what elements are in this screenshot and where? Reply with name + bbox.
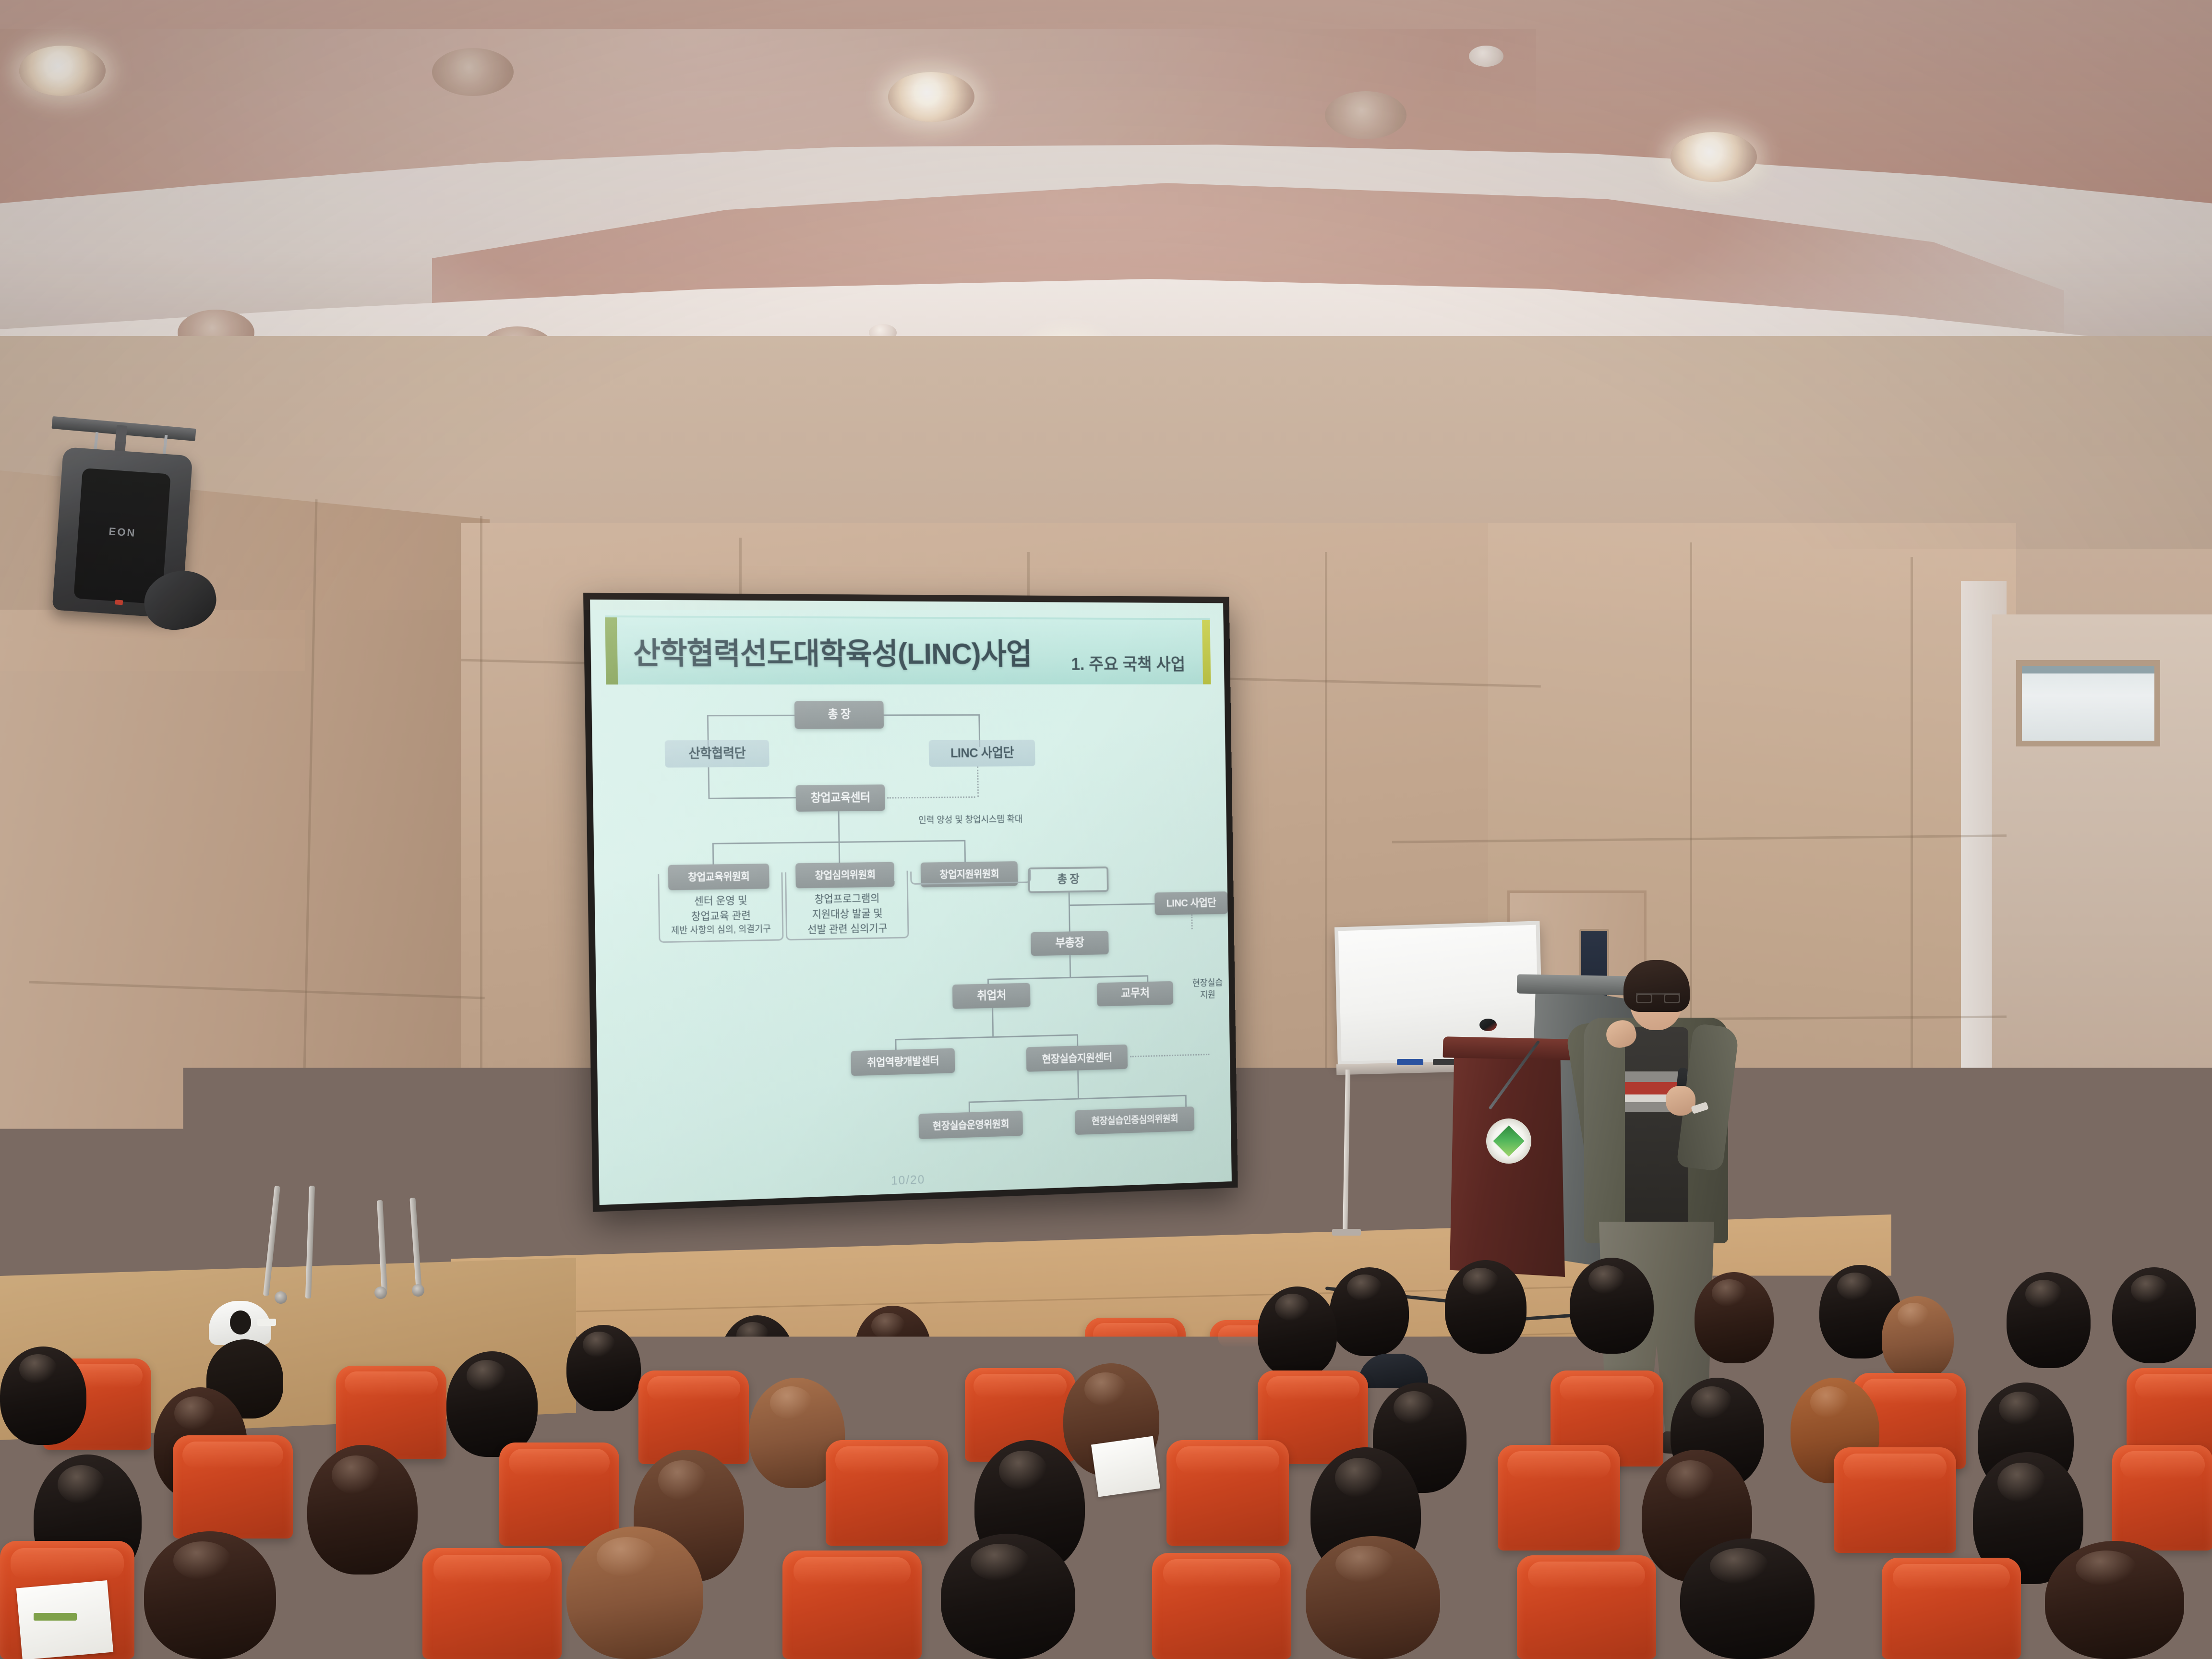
seat[interactable] bbox=[1834, 1447, 1956, 1553]
connector bbox=[707, 715, 794, 716]
org-caption-left-2: 창업프로그램의 지원대상 발굴 및 선발 관련 심의기구 bbox=[785, 890, 909, 938]
folding-table-caster bbox=[412, 1284, 424, 1297]
university-seal-emblem bbox=[1486, 1118, 1531, 1164]
presenter-sweater bbox=[1625, 1027, 1688, 1229]
back-counter-equipment bbox=[2107, 1087, 2165, 1126]
annotation-line: 현장실습 bbox=[1177, 977, 1232, 990]
connector bbox=[1077, 1070, 1079, 1098]
slide-title: 산학협력선도대학육성(LINC)사업 bbox=[633, 629, 1032, 673]
caption-line: 창업프로그램의 bbox=[785, 890, 908, 907]
ceiling-downlight-icon bbox=[888, 72, 974, 122]
whiteboard-marker-black[interactable] bbox=[1433, 1059, 1456, 1065]
seat[interactable] bbox=[1517, 1555, 1656, 1659]
folding-table-modesty-panel bbox=[305, 1145, 413, 1224]
audience-head bbox=[1445, 1260, 1527, 1354]
org-node-right-7: 현장실습지원센터 bbox=[1026, 1045, 1128, 1072]
org-node-right-2: LINC 사업단 bbox=[1154, 891, 1228, 915]
audience-head bbox=[1258, 1286, 1337, 1378]
slide-page-number: 10/20 bbox=[891, 1172, 926, 1188]
slide-accent-left bbox=[605, 617, 618, 685]
connector bbox=[712, 843, 714, 866]
caption-line: 선발 관련 심의기구 bbox=[786, 920, 909, 938]
wall-seam bbox=[1911, 557, 1913, 1219]
dotted-connector bbox=[1130, 1054, 1209, 1057]
seat[interactable] bbox=[336, 1366, 446, 1459]
seat[interactable] bbox=[2112, 1445, 2212, 1551]
dotted-connector bbox=[887, 796, 975, 799]
presenter-glasses-icon bbox=[1636, 993, 1680, 1002]
audience-head bbox=[144, 1531, 276, 1659]
audience-head bbox=[854, 1306, 931, 1395]
ceiling-downlight-icon bbox=[1671, 132, 1757, 182]
audience-head bbox=[1570, 1258, 1654, 1354]
slide-titlebar: 산학협력선도대학육성(LINC)사업 1. 주요 국책 사업 bbox=[605, 615, 1211, 685]
back-counter-divider bbox=[2033, 1133, 2062, 1258]
whiteboard-marker-blue[interactable] bbox=[1397, 1059, 1423, 1065]
audience-head bbox=[0, 1346, 86, 1445]
connector bbox=[839, 842, 841, 865]
org-node-right-9: 현장실습인증심의위원회 bbox=[1075, 1106, 1195, 1135]
audience-head bbox=[307, 1445, 418, 1575]
microphone-head-icon bbox=[1479, 1019, 1497, 1031]
seat[interactable] bbox=[1152, 1553, 1291, 1659]
auditorium-photo-scene: EON 산학협력선도대학육성(LINC)사업 1. 주요 국책 사업 총 장 bbox=[0, 0, 2212, 1659]
org-node-left-3: LINC 사업단 bbox=[928, 740, 1035, 767]
audience-head bbox=[2045, 1541, 2184, 1659]
projection-booth-window bbox=[2016, 660, 2160, 746]
caption-line: 창업교육 관련 bbox=[658, 907, 783, 925]
connector bbox=[992, 1008, 994, 1036]
connector bbox=[884, 714, 978, 716]
audience-head bbox=[1306, 1536, 1440, 1659]
seat[interactable] bbox=[826, 1440, 948, 1546]
seat[interactable] bbox=[499, 1443, 619, 1546]
wall-power-outlet bbox=[1370, 1118, 1393, 1142]
ceiling-downlight-icon bbox=[1325, 91, 1407, 139]
audience-head bbox=[1695, 1272, 1774, 1363]
dotted-connector bbox=[1191, 914, 1193, 929]
org-node-right-6: 취업역량개발센터 bbox=[851, 1048, 955, 1076]
audience-head bbox=[941, 1534, 1075, 1659]
org-node-right-1: 총 장 bbox=[1028, 866, 1108, 893]
connector bbox=[969, 1095, 1185, 1103]
audience-head bbox=[1330, 1267, 1409, 1356]
handout-graphic bbox=[34, 1613, 77, 1621]
org-node-left-1: 총 장 bbox=[794, 701, 884, 729]
caption-line: 제반 사항의 심의, 의결기구 bbox=[659, 922, 784, 938]
annotation-line: 지원 bbox=[1178, 989, 1232, 1002]
caption-line: 센터 운영 및 bbox=[658, 892, 783, 910]
connector bbox=[987, 975, 1147, 980]
whiteboard-foot bbox=[1332, 1229, 1361, 1236]
connector bbox=[1069, 893, 1070, 931]
audience-head bbox=[1680, 1539, 1815, 1659]
presenter-right-hand bbox=[1666, 1086, 1695, 1116]
org-annotation-left: 인력 양성 및 창업시스템 확대 bbox=[889, 813, 1052, 827]
presenter-hair bbox=[1623, 960, 1690, 1012]
seat[interactable] bbox=[1498, 1445, 1620, 1551]
org-annotation-right: 현장실습 지원 bbox=[1177, 977, 1232, 1002]
smoke-detector-icon bbox=[1469, 46, 1503, 67]
seal-diamond-icon bbox=[1493, 1125, 1524, 1156]
caption-line: 지원대상 발굴 및 bbox=[786, 905, 909, 923]
org-node-right-5: 교무처 bbox=[1097, 981, 1173, 1006]
seat[interactable] bbox=[173, 1435, 293, 1539]
ceiling-downlight-icon bbox=[432, 48, 514, 96]
seat[interactable] bbox=[1166, 1440, 1289, 1546]
ceiling-downlight-icon bbox=[19, 46, 106, 96]
org-node-right-4: 취업처 bbox=[952, 983, 1030, 1009]
audience-head bbox=[2112, 1267, 2196, 1363]
caption-brace bbox=[910, 870, 1031, 885]
connector bbox=[1185, 1095, 1187, 1108]
slide-section-label: 1. 주요 국책 사업 bbox=[1071, 651, 1185, 675]
podium-top-surface bbox=[1443, 1036, 1573, 1060]
slide-body: 총 장 산학협력단 LINC 사업단 창업교육센터 인력 양성 및 창업시스템 … bbox=[591, 693, 1232, 1205]
connector bbox=[708, 768, 709, 799]
connector bbox=[838, 811, 840, 842]
speaker-power-led bbox=[115, 600, 123, 605]
connector bbox=[1070, 955, 1071, 976]
connector bbox=[1069, 903, 1154, 906]
seat[interactable] bbox=[782, 1551, 922, 1659]
slide-content: 산학협력선도대학육성(LINC)사업 1. 주요 국책 사업 총 장 산학협력단… bbox=[590, 600, 1232, 1205]
org-node-right-8: 현장실습운영위원회 bbox=[918, 1111, 1023, 1139]
wall-seam bbox=[1325, 552, 1327, 1234]
connector bbox=[895, 1034, 1077, 1041]
av-equipment-case bbox=[2127, 1142, 2211, 1229]
org-node-right-3: 부총장 bbox=[1031, 931, 1109, 956]
connector bbox=[964, 840, 966, 863]
wall-seam bbox=[480, 516, 482, 1265]
connector bbox=[708, 797, 795, 800]
audience-handout[interactable] bbox=[1091, 1436, 1160, 1497]
connector bbox=[1147, 975, 1149, 982]
audience-head bbox=[446, 1351, 538, 1457]
projection-screen: 산학협력선도대학육성(LINC)사업 1. 주요 국책 사업 총 장 산학협력단… bbox=[583, 593, 1238, 1212]
dotted-connector bbox=[977, 767, 979, 797]
folding-table-caster bbox=[275, 1291, 287, 1304]
wall-power-outlet bbox=[182, 1186, 204, 1209]
audience-head bbox=[2007, 1272, 2091, 1368]
folding-table-caster bbox=[374, 1286, 387, 1299]
audience-head bbox=[566, 1325, 641, 1411]
projection-screen-surface: 산학협력선도대학육성(LINC)사업 1. 주요 국책 사업 총 장 산학협력단… bbox=[590, 600, 1232, 1205]
org-node-left-4: 창업교육센터 bbox=[795, 784, 885, 812]
org-node-left-2: 산학협력단 bbox=[665, 740, 769, 768]
seat[interactable] bbox=[1882, 1558, 2021, 1659]
audience-head bbox=[566, 1527, 703, 1659]
seat[interactable] bbox=[422, 1548, 562, 1659]
org-caption-left-1: 센터 운영 및 창업교육 관련 제반 사항의 심의, 의결기구 bbox=[658, 892, 784, 938]
audience-head bbox=[1882, 1296, 1954, 1380]
slide-accent-right bbox=[1202, 620, 1211, 684]
